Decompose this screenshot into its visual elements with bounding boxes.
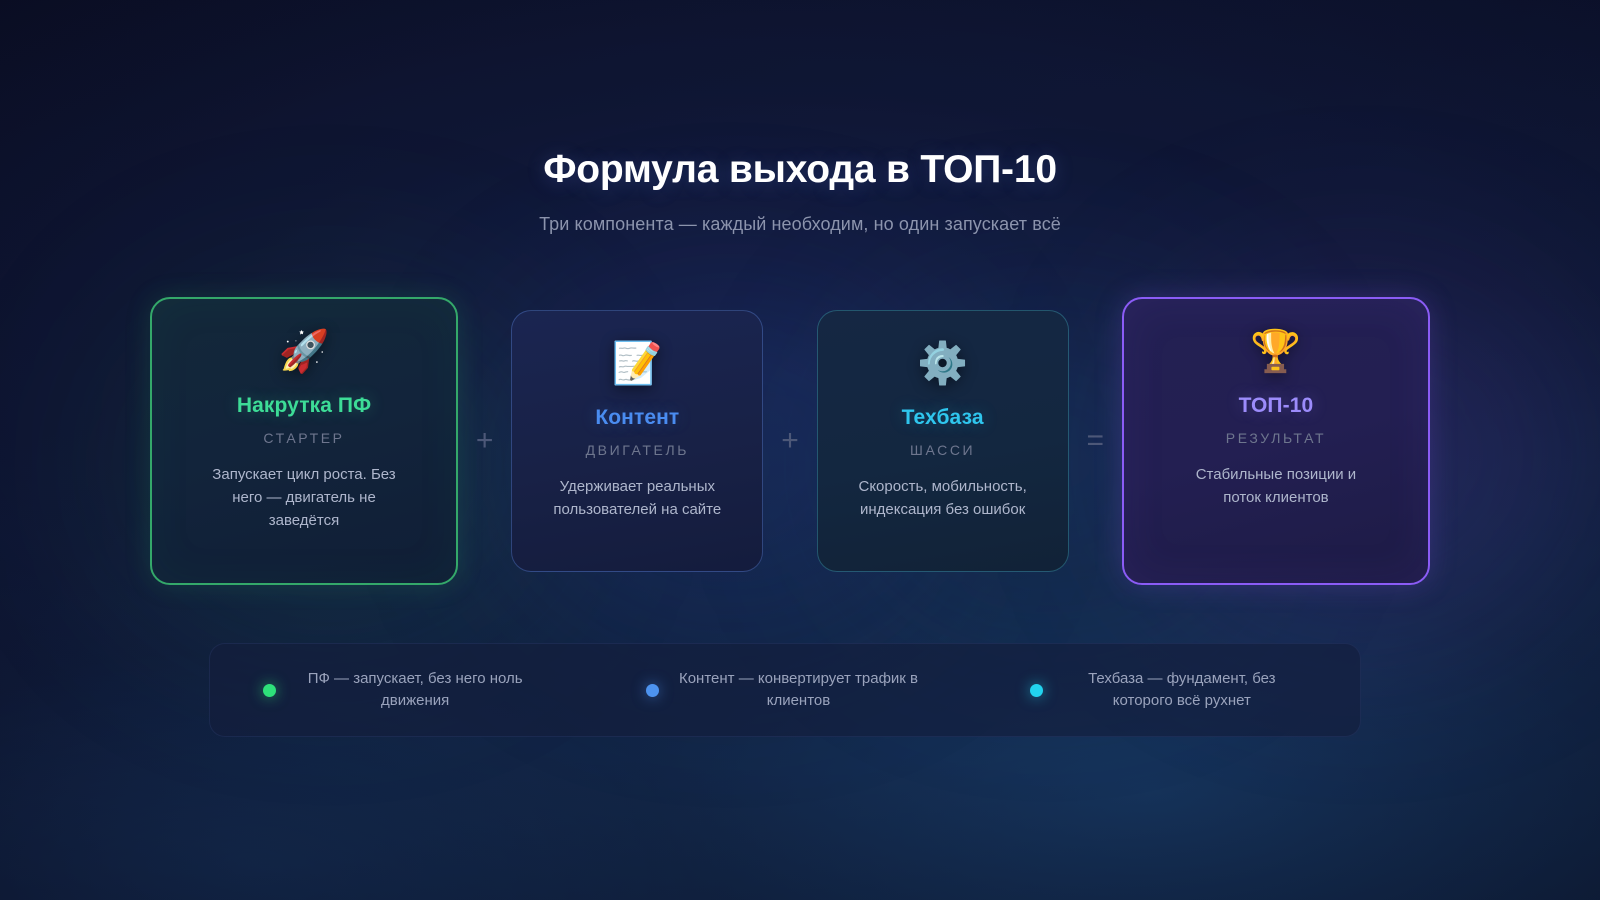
card-starter[interactable]: 🚀 Накрутка ПФ СТАРТЕР Запускает цикл рос… <box>150 297 458 585</box>
card-starter-role: СТАРТЕР <box>263 430 344 446</box>
legend-dot-cyan <box>1030 684 1043 697</box>
operator-plus-1: + <box>467 426 503 456</box>
legend-dot-green <box>263 684 276 697</box>
card-tech[interactable]: ⚙️ Техбаза ШАССИ Скорость, мобильность, … <box>817 310 1069 572</box>
trophy-icon: 🏆 <box>1250 329 1301 375</box>
gear-icon: ⚙️ <box>917 341 968 387</box>
legend-text-content: Контент — конвертирует трафик в клиентов <box>673 668 923 712</box>
page-title: Формула выхода в ТОП-10 <box>0 148 1600 193</box>
card-content-description: Удерживает реальных пользователей на сай… <box>534 475 740 522</box>
legend-text-tech: Техбаза — фундамент, без которого всё ру… <box>1057 668 1307 712</box>
card-tech-description: Скорость, мобильность, индексация без ош… <box>840 475 1046 522</box>
legend-item-content: Контент — конвертирует трафик в клиентов <box>593 668 976 712</box>
page-subtitle: Три компонента — каждый необходим, но од… <box>0 214 1600 235</box>
section-heading: Формула выхода в ТОП-10 Три компонента —… <box>0 148 1600 235</box>
legend-dot-blue <box>646 684 659 697</box>
card-starter-title: Накрутка ПФ <box>237 394 371 418</box>
card-content-title: Контент <box>595 406 679 430</box>
card-tech-role: ШАССИ <box>910 442 975 458</box>
card-content[interactable]: 📝 Контент ДВИГАТЕЛЬ Удерживает реальных … <box>511 310 763 572</box>
legend-text-pf: ПФ — запускает, без него ноль движения <box>290 668 540 712</box>
rocket-icon: 🚀 <box>278 329 329 375</box>
card-result[interactable]: 🏆 ТОП-10 РЕЗУЛЬТАТ Стабильные позиции и … <box>1122 297 1430 585</box>
legend-bar: ПФ — запускает, без него ноль движения К… <box>209 643 1361 737</box>
legend-item-pf: ПФ — запускает, без него ноль движения <box>210 668 593 712</box>
card-content-role: ДВИГАТЕЛЬ <box>586 442 689 458</box>
card-starter-description: Запускает цикл роста. Без него — двигате… <box>207 463 402 533</box>
card-result-role: РЕЗУЛЬТАТ <box>1226 430 1326 446</box>
legend-item-tech: Техбаза — фундамент, без которого всё ру… <box>977 668 1360 712</box>
card-result-description: Стабильные позиции и поток клиентов <box>1183 463 1368 510</box>
card-tech-title: Техбаза <box>902 406 984 430</box>
memo-icon: 📝 <box>612 341 663 387</box>
formula-section: Формула выхода в ТОП-10 Три компонента —… <box>0 0 1600 900</box>
operator-equals: = <box>1077 426 1113 456</box>
operator-plus-2: + <box>772 426 808 456</box>
formula-row: 🚀 Накрутка ПФ СТАРТЕР Запускает цикл рос… <box>150 288 1430 593</box>
card-result-title: ТОП-10 <box>1239 394 1314 418</box>
